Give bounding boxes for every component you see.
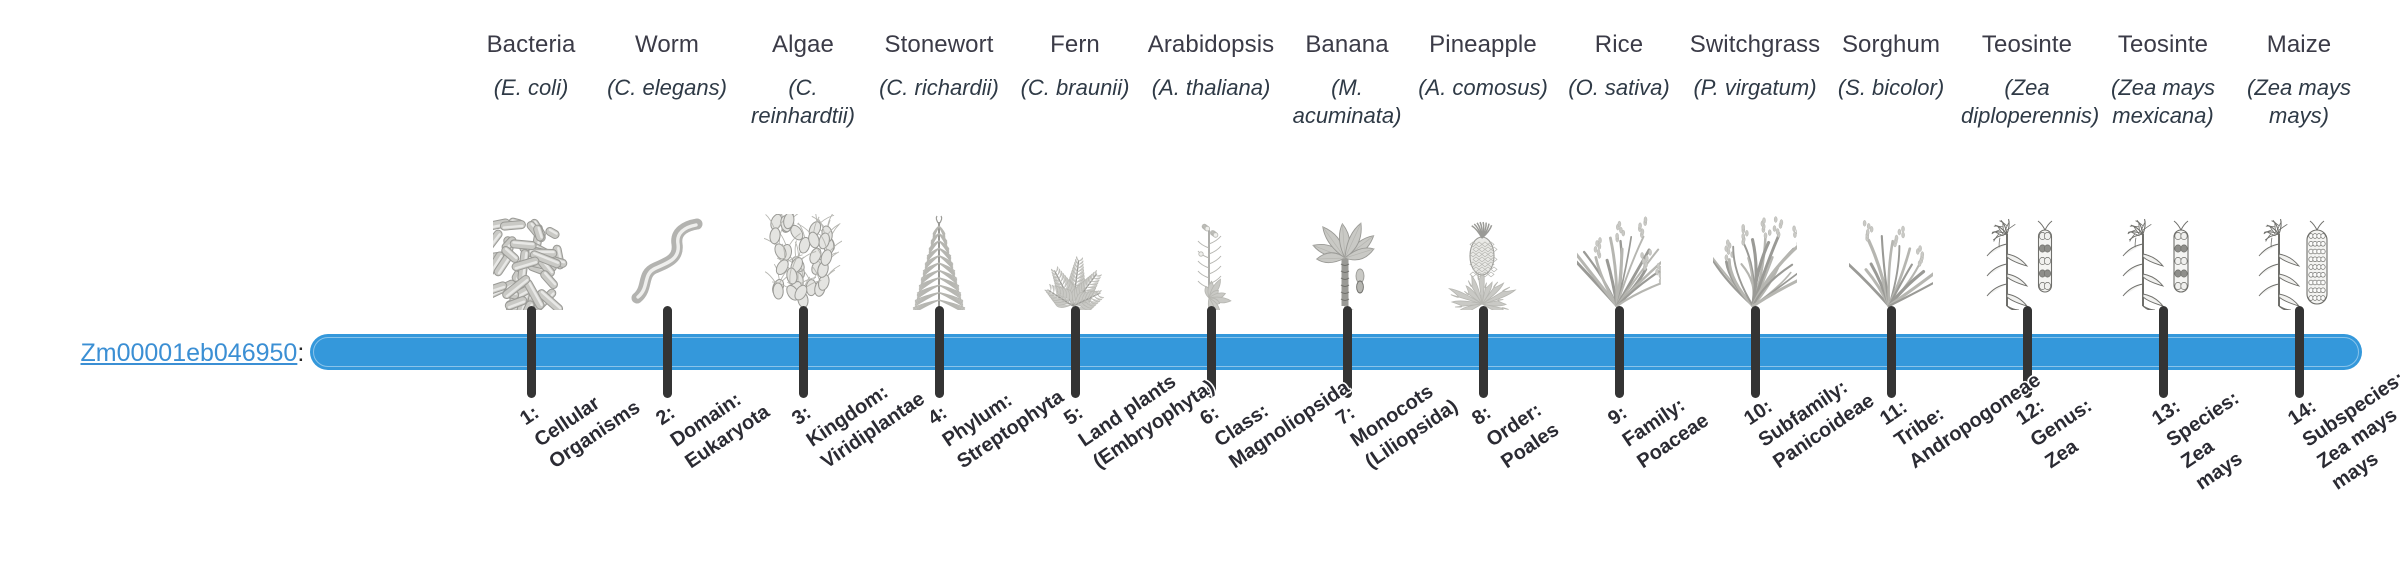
species-common-name: Bacteria (465, 30, 597, 60)
species-column-sorghum-11: Sorghum(S. bicolor) (1825, 30, 1957, 102)
worm-illustration (601, 198, 733, 310)
species-column-teosinte-12: Teosinte(Zea diploperennis) (1961, 30, 2093, 130)
species-column-maize-14: Maize(Zea mays mays) (2233, 30, 2365, 130)
rice-illustration (1553, 198, 1685, 310)
species-column-banana-7: Banana(M. acuminata) (1281, 30, 1413, 130)
teosinte-mexicana-illustration (2097, 198, 2229, 310)
tick-mark-3 (799, 306, 808, 398)
species-common-name: Sorghum (1825, 30, 1957, 60)
species-scientific-name: (O. sativa) (1553, 74, 1685, 102)
sorghum-illustration (1825, 198, 1957, 310)
tick-mark-2 (663, 306, 672, 398)
phylostratum-bar[interactable] (310, 334, 2362, 370)
species-common-name: Arabidopsis (1145, 30, 1277, 60)
tick-mark-1 (527, 306, 536, 398)
species-scientific-name: (C. braunii) (1009, 74, 1141, 102)
species-column-pineapple-8: Pineapple(A. comosus) (1417, 30, 1549, 102)
arabidopsis-illustration (1145, 198, 1277, 310)
species-column-rice-9: Rice(O. sativa) (1553, 30, 1685, 102)
species-common-name: Fern (1009, 30, 1141, 60)
tick-mark-4 (935, 306, 944, 398)
species-scientific-name: (Zea mays mexicana) (2097, 74, 2229, 130)
species-common-name: Rice (1553, 30, 1685, 60)
gene-id-link[interactable]: Zm00001eb046950 (80, 339, 297, 367)
species-scientific-name: (Zea mays mays) (2233, 74, 2365, 130)
species-scientific-name: (S. bicolor) (1825, 74, 1957, 102)
species-column-stonewort-4: Stonewort(C. richardii) (873, 30, 1005, 102)
tick-mark-8 (1479, 306, 1488, 398)
species-scientific-name: (P. virgatum) (1689, 74, 1821, 102)
species-column-arabidopsis-6: Arabidopsis(A. thaliana) (1145, 30, 1277, 102)
species-common-name: Switchgrass (1689, 30, 1821, 60)
species-column-worm-2: Worm(C. elegans) (601, 30, 733, 102)
species-scientific-name: (C. elegans) (601, 74, 733, 102)
species-column-teosinte-13: Teosinte(Zea mays mexicana) (2097, 30, 2229, 130)
species-scientific-name: (A. thaliana) (1145, 74, 1277, 102)
species-scientific-name: (A. comosus) (1417, 74, 1549, 102)
species-common-name: Teosinte (2097, 30, 2229, 60)
switchgrass-illustration (1689, 198, 1821, 310)
species-scientific-name: (C. richardii) (873, 74, 1005, 102)
species-common-name: Teosinte (1961, 30, 2093, 60)
species-scientific-name: (E. coli) (465, 74, 597, 102)
tick-mark-9 (1615, 306, 1624, 398)
banana-illustration (1281, 198, 1413, 310)
species-common-name: Algae (737, 30, 869, 60)
stonewort-illustration (873, 198, 1005, 310)
tick-mark-14 (2295, 306, 2304, 398)
species-scientific-name: (Zea diploperennis) (1961, 74, 2093, 130)
bacteria-illustration (465, 198, 597, 310)
species-common-name: Worm (601, 30, 733, 60)
species-column-switchgrass-10: Switchgrass(P. virgatum) (1689, 30, 1821, 102)
fern-illustration (1009, 198, 1141, 310)
tick-mark-13 (2159, 306, 2168, 398)
algae-illustration (737, 198, 869, 310)
species-scientific-name: (M. acuminata) (1281, 74, 1413, 130)
species-common-name: Pineapple (1417, 30, 1549, 60)
tick-mark-5 (1071, 306, 1080, 398)
species-common-name: Banana (1281, 30, 1413, 60)
species-scientific-name: (C. reinhardtii) (737, 74, 869, 130)
pineapple-illustration (1417, 198, 1549, 310)
species-common-name: Stonewort (873, 30, 1005, 60)
phylostratum-figure: Zm00001eb046950: Phylostratum 1 Bacteria… (0, 0, 2400, 580)
species-column-fern-5: Fern(C. braunii) (1009, 30, 1141, 102)
species-column-bacteria-1: Bacteria(E. coli) (465, 30, 597, 102)
tick-mark-11 (1887, 306, 1896, 398)
teosinte-diploperennis-illustration (1961, 198, 2093, 310)
species-column-algae-3: Algae(C. reinhardtii) (737, 30, 869, 130)
tick-mark-10 (1751, 306, 1760, 398)
maize-illustration (2233, 198, 2365, 310)
species-common-name: Maize (2233, 30, 2365, 60)
